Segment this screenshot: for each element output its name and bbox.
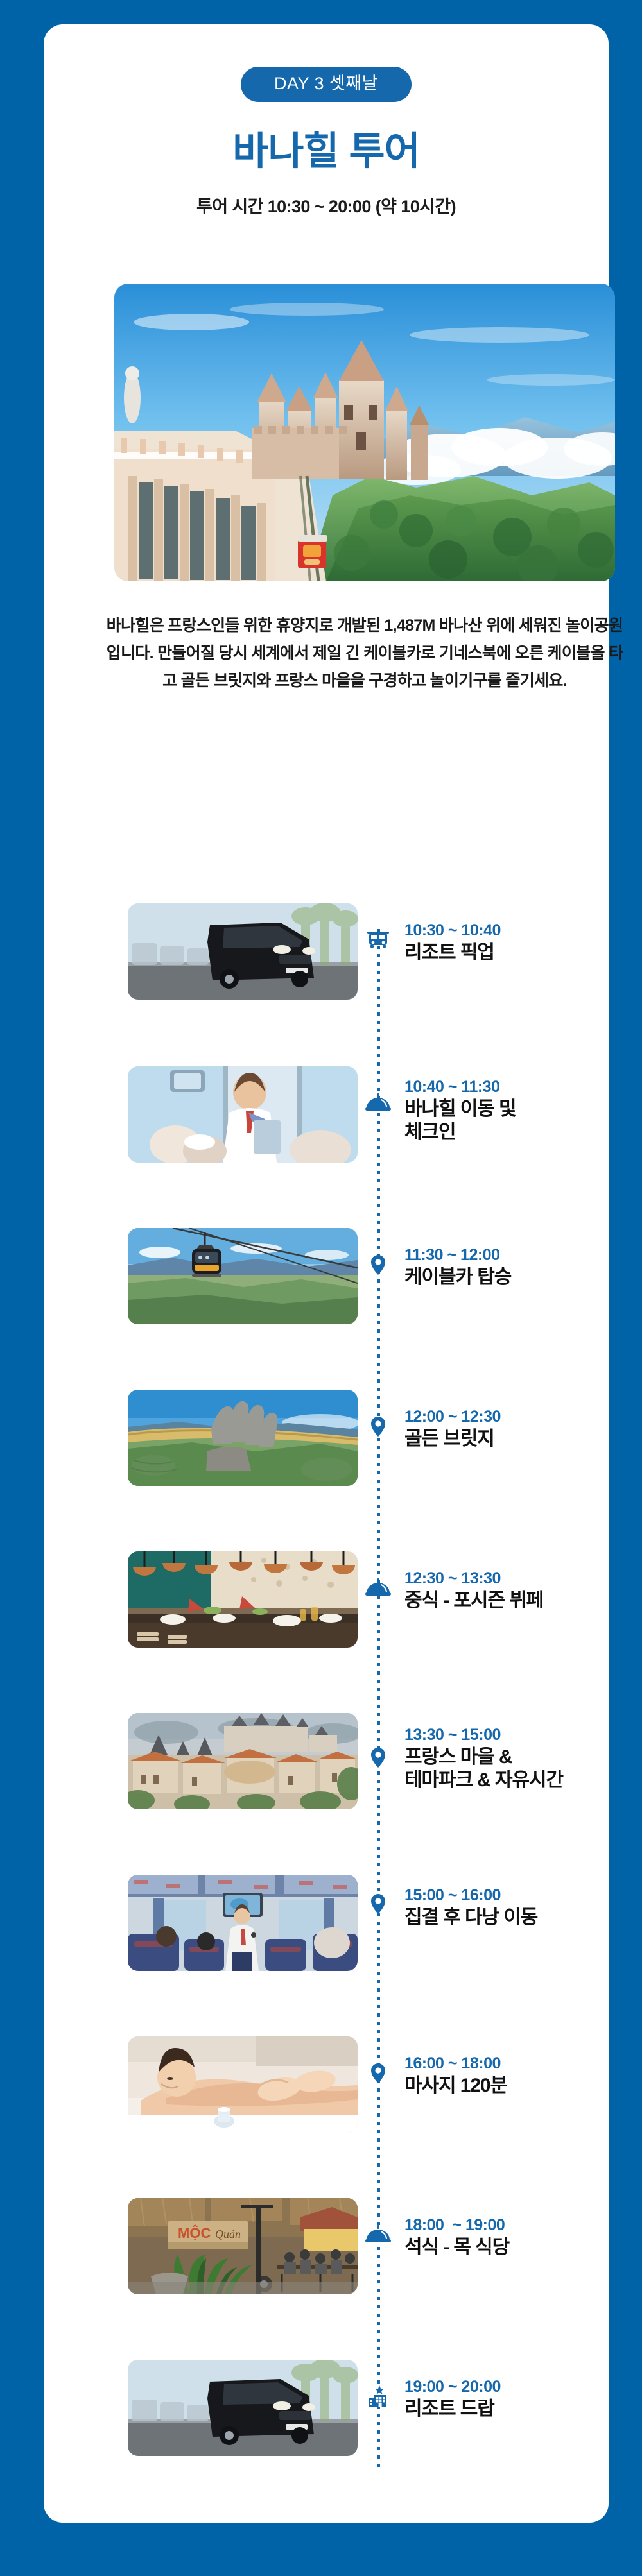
timeline-label: 집결 후 다낭 이동 <box>404 1906 642 1930</box>
timeline-item[interactable]: 12:30 ~ 13:30 중식 - 포시즌 뷔페 <box>44 1551 642 1654</box>
timeline-label: 바나힐 이동 및 체크인 <box>404 1098 642 1145</box>
timeline-label: 리조트 드랍 <box>404 2398 642 2421</box>
meal-dome-icon <box>363 1088 393 1118</box>
timeline-time: 12:30 ~ 13:30 <box>404 1569 642 1588</box>
day-badge: DAY 3 셋째날 <box>241 67 412 102</box>
timeline-item[interactable]: 16:00 ~ 18:00 마사지 120분 <box>44 2036 642 2139</box>
map-pin-icon <box>363 2058 393 2088</box>
timeline-text: 12:00 ~ 12:30 골든 브릿지 <box>404 1408 642 1451</box>
timeline-thumbnail <box>128 1713 358 1809</box>
timeline-label: 프랑스 마을 & 테마파크 & 자유시간 <box>404 1746 642 1793</box>
timeline-time: 13:30 ~ 15:00 <box>404 1726 642 1744</box>
bus-icon <box>363 925 393 955</box>
map-pin-icon <box>363 1889 393 1918</box>
timeline: 10:30 ~ 10:40 리조트 픽업 <box>44 903 642 2546</box>
timeline-text: 18:00 ~ 19:00 석식 - 목 식당 <box>404 2216 642 2259</box>
timeline-label: 중식 - 포시즌 뷔페 <box>404 1589 642 1613</box>
timeline-text: 19:00 ~ 20:00 리조트 드랍 <box>404 2378 642 2421</box>
timeline-time: 19:00 ~ 20:00 <box>404 2378 642 2396</box>
timeline-thumbnail <box>128 903 358 1000</box>
timeline-item[interactable]: 10:40 ~ 11:30 바나힐 이동 및 체크인 <box>44 1066 642 1169</box>
timeline-time: 18:00 ~ 19:00 <box>404 2216 642 2235</box>
timeline-thumbnail <box>128 1066 358 1163</box>
hero-image <box>114 284 615 581</box>
timeline-label: 마사지 120분 <box>404 2074 642 2098</box>
timeline-text: 10:30 ~ 10:40 리조트 픽업 <box>404 921 642 964</box>
timeline-label: 케이블카 탑승 <box>404 1266 642 1290</box>
map-pin-icon <box>363 1743 393 1772</box>
tour-duration-subtitle: 투어 시간 10:30 ~ 20:00 (약 10시간) <box>44 192 609 218</box>
timeline-item[interactable]: 13:30 ~ 15:00 프랑스 마을 & 테마파크 & 자유시간 <box>44 1713 642 1816</box>
hotel-icon <box>363 2382 393 2411</box>
timeline-time: 15:00 ~ 16:00 <box>404 1886 642 1905</box>
day-badge-container: DAY 3 셋째날 <box>44 67 609 102</box>
meal-dome-icon <box>363 1573 393 1603</box>
map-pin-icon <box>363 1412 393 1441</box>
svg-text:Quán: Quán <box>215 2228 241 2240</box>
timeline-time: 10:30 ~ 10:40 <box>404 921 642 940</box>
timeline-text: 11:30 ~ 12:00 케이블카 탑승 <box>404 1246 642 1289</box>
timeline-text: 15:00 ~ 16:00 집결 후 다낭 이동 <box>404 1886 642 1929</box>
timeline-time: 12:00 ~ 12:30 <box>404 1408 642 1426</box>
timeline-label: 석식 - 목 식당 <box>404 2236 642 2260</box>
timeline-thumbnail <box>128 2360 358 2456</box>
timeline-item[interactable]: 12:00 ~ 12:30 골든 브릿지 <box>44 1390 642 1492</box>
timeline-thumbnail <box>128 1551 358 1648</box>
meal-dome-icon <box>363 2220 393 2249</box>
timeline-text: 16:00 ~ 18:00 마사지 120분 <box>404 2054 642 2097</box>
timeline-time: 16:00 ~ 18:00 <box>404 2054 642 2073</box>
timeline-item[interactable]: 11:30 ~ 12:00 케이블카 탑승 <box>44 1228 642 1331</box>
timeline-label: 리조트 픽업 <box>404 941 642 965</box>
timeline-item[interactable]: 15:00 ~ 16:00 집결 후 다낭 이동 <box>44 1875 642 1977</box>
page-title: 바나힐 투어 <box>44 132 609 171</box>
timeline-item[interactable]: 10:30 ~ 10:40 리조트 픽업 <box>44 903 642 1006</box>
timeline-thumbnail: MỘC Quán <box>128 2198 358 2294</box>
tour-description: 바나힐은 프랑스인들 위한 휴양지로 개발된 1,487M 바나산 위에 세워진… <box>101 612 628 695</box>
timeline-item[interactable]: MỘC Quán <box>44 2198 642 2301</box>
svg-text:MỘC: MỘC <box>178 2225 211 2241</box>
timeline-time: 11:30 ~ 12:00 <box>404 1246 642 1265</box>
timeline-item[interactable]: 19:00 ~ 20:00 리조트 드랍 <box>44 2360 642 2462</box>
timeline-thumbnail <box>128 1228 358 1324</box>
timeline-thumbnail <box>128 1390 358 1486</box>
timeline-thumbnail <box>128 2036 358 2133</box>
timeline-text: 12:30 ~ 13:30 중식 - 포시즌 뷔페 <box>404 1569 642 1612</box>
timeline-text: 10:40 ~ 11:30 바나힐 이동 및 체크인 <box>404 1078 642 1145</box>
content-card: DAY 3 셋째날 바나힐 투어 투어 시간 10:30 ~ 20:00 (약 … <box>44 24 609 2523</box>
timeline-label: 골든 브릿지 <box>404 1428 642 1451</box>
timeline-text: 13:30 ~ 15:00 프랑스 마을 & 테마파크 & 자유시간 <box>404 1726 642 1793</box>
timeline-thumbnail <box>128 1875 358 1971</box>
map-pin-icon <box>363 1250 393 1279</box>
itinerary-page: DAY 3 셋째날 바나힐 투어 투어 시간 10:30 ~ 20:00 (약 … <box>0 0 642 2576</box>
timeline-time: 10:40 ~ 11:30 <box>404 1078 642 1096</box>
